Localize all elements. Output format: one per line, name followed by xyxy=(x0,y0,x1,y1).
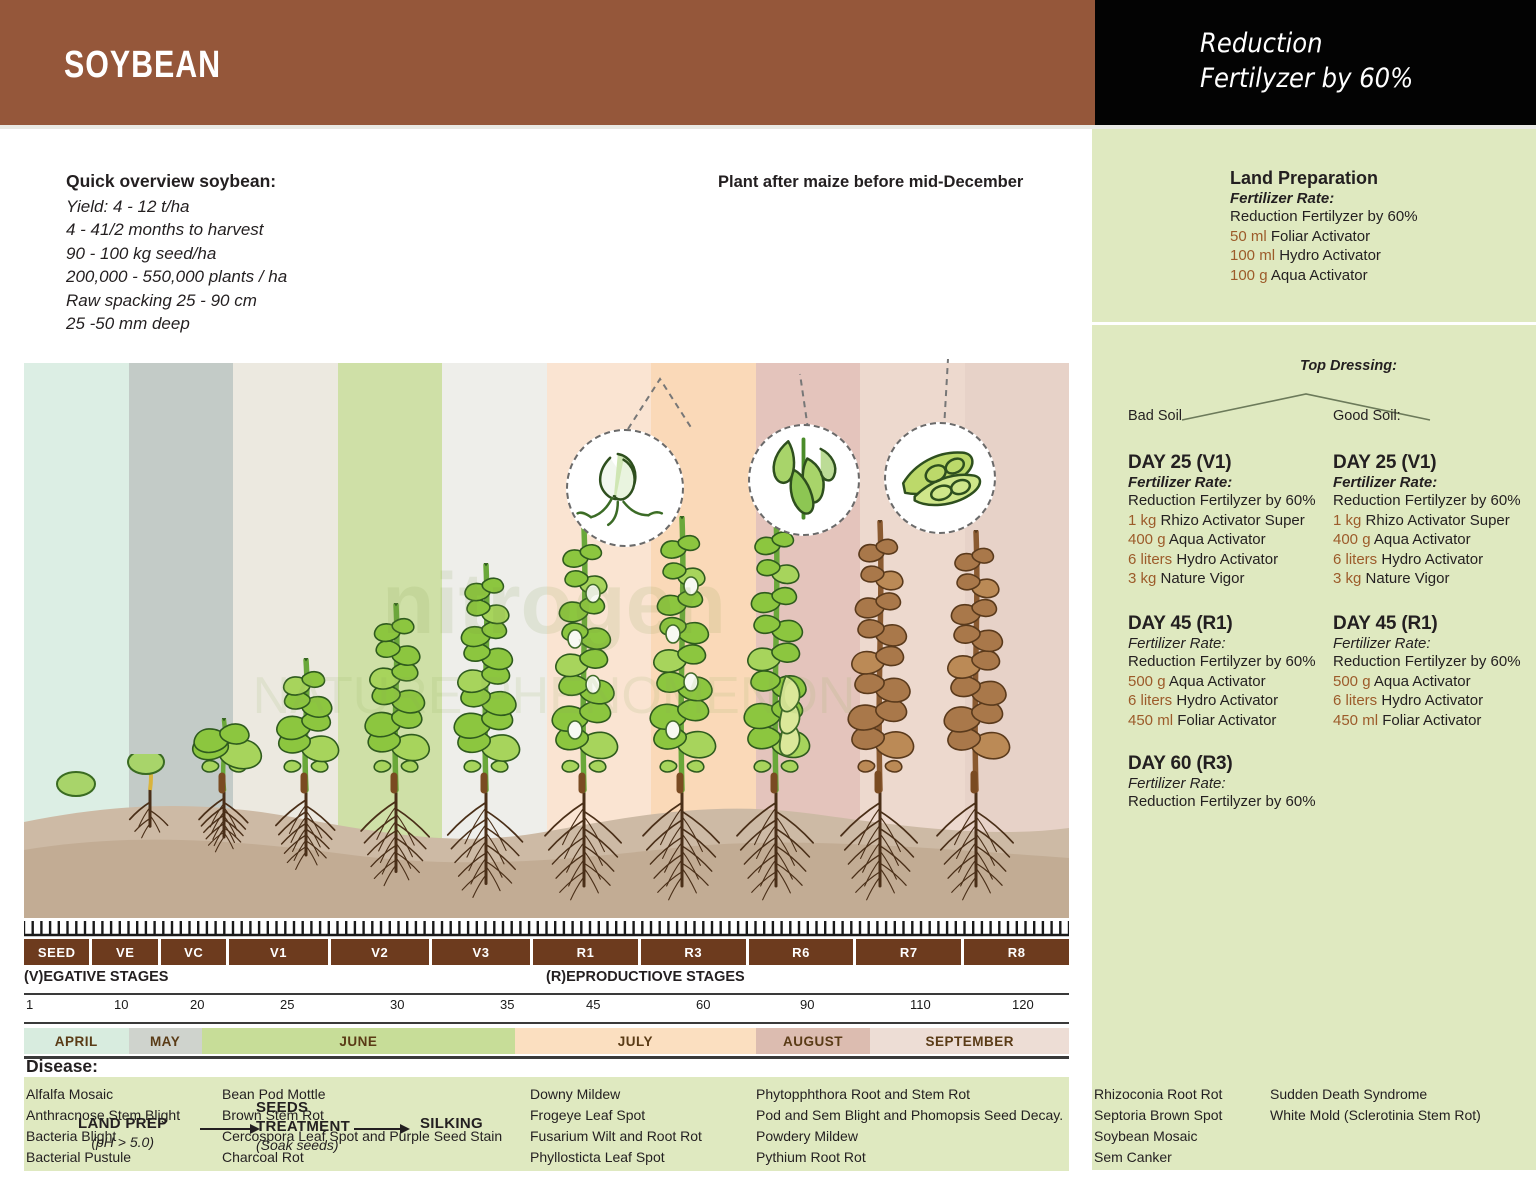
land-preparation-title: Land Preparation xyxy=(1230,168,1530,189)
disease-item: Phyllosticta Leaf Spot xyxy=(530,1147,702,1168)
plant-stage-r8 xyxy=(920,530,1032,908)
day-block-base-rate: Reduction Fertilyzer by 60% xyxy=(1333,491,1536,511)
fertilizer-product: Aqua Activator xyxy=(1271,267,1368,284)
day-tick-label: 45 xyxy=(586,997,600,1012)
fertilizer-product: Aqua Activator xyxy=(1169,531,1266,548)
fertilizer-item: 6 liters Hydro Activator xyxy=(1333,691,1536,711)
fertilizer-item: 100 g Aqua Activator xyxy=(1230,266,1530,286)
fertilizer-product: Aqua Activator xyxy=(1374,531,1471,548)
good-soil-label: Good Soil: xyxy=(1333,408,1401,424)
disease-item: Bacterial Pustule xyxy=(26,1147,180,1168)
month-block-april[interactable]: APRIL xyxy=(24,1028,129,1054)
disease-item: Powdery Mildew xyxy=(756,1126,1063,1147)
tagline-line-1: Reduction xyxy=(1200,26,1530,61)
stage-block-r6[interactable]: R6 xyxy=(749,939,854,965)
fertilizer-amount: 6 liters xyxy=(1128,551,1176,568)
fertilizer-product: Hydro Activator xyxy=(1176,692,1278,709)
main-content: Quick overview soybean: Yield: 4 - 12 t/… xyxy=(0,129,1092,1187)
disease-column: Sudden Death SyndromeWhite Mold (Sclerot… xyxy=(1270,1084,1481,1126)
page-header: SOYBEAN Reduction Fertilyzer by 60% xyxy=(0,0,1536,125)
fertilizer-product: Hydro Activator xyxy=(1381,551,1483,568)
disease-item: Pod and Sem Blight and Phomopsis Seed De… xyxy=(756,1105,1063,1126)
disease-item: Rhizoconia Root Rot xyxy=(1094,1084,1222,1105)
fertilizer-amount: 3 kg xyxy=(1333,570,1366,587)
day-block-title: DAY 45 (R1) xyxy=(1333,613,1536,635)
disease-item: Soybean Mosaic xyxy=(1094,1126,1222,1147)
disease-item: Fusarium Wilt and Root Rot xyxy=(530,1126,702,1147)
disease-item: Pythium Root Rot xyxy=(756,1147,1063,1168)
stage-blocks-row: SEEDVEVCV1V2V3R1R3R6R7R8 xyxy=(24,939,1069,965)
stage-block-vc[interactable]: VC xyxy=(161,939,226,965)
month-block-july[interactable]: JULY xyxy=(515,1028,755,1054)
fertilizer-item: 450 ml Foliar Activator xyxy=(1333,711,1536,731)
disease-column: Phytopphthora Root and Stem RotPod and S… xyxy=(756,1084,1063,1168)
stage-block-r1[interactable]: R1 xyxy=(533,939,638,965)
quick-overview-block: Quick overview soybean: Yield: 4 - 12 t/… xyxy=(66,171,406,336)
day-block-base-rate: Reduction Fertilyzer by 60% xyxy=(1128,652,1333,672)
disease-item: Alfalfa Mosaic xyxy=(26,1084,180,1105)
stage-block-v2[interactable]: V2 xyxy=(331,939,429,965)
fertilizer-amount: 6 liters xyxy=(1128,692,1176,709)
watermark: nitrogen NATURE PHENOMENON xyxy=(184,543,924,773)
callout-green-pods xyxy=(748,424,860,536)
vegetative-stages-caption: (V)EGATIVE STAGES xyxy=(24,969,168,985)
fertilizer-item: 1 kg Rhizo Activator Super xyxy=(1128,511,1333,531)
stage-block-v3[interactable]: V3 xyxy=(432,939,530,965)
disease-column: Rhizoconia Root RotSeptoria Brown SpotSo… xyxy=(1094,1084,1222,1168)
day-tick-label: 60 xyxy=(696,997,710,1012)
quick-overview-line: Raw spacking 25 - 90 cm xyxy=(66,289,406,312)
quick-overview-line: 25 -50 mm deep xyxy=(66,312,406,335)
day-tick-label: 120 xyxy=(1012,997,1034,1012)
disease-item: Septoria Brown Spot xyxy=(1094,1105,1222,1126)
disease-item: Sudden Death Syndrome xyxy=(1270,1084,1481,1105)
fertilizer-item: 500 g Aqua Activator xyxy=(1128,672,1333,692)
disease-item: Anthracnose Stem Blight xyxy=(26,1105,180,1126)
fertilizer-amount: 1 kg xyxy=(1333,512,1366,529)
month-bar-bottom-rule xyxy=(24,1056,1069,1059)
fertilizer-item: 450 ml Foliar Activator xyxy=(1128,711,1333,731)
fertilizer-product: Aqua Activator xyxy=(1169,673,1266,690)
fertilizer-product: Hydro Activator xyxy=(1176,551,1278,568)
day-tick-label: 110 xyxy=(910,997,931,1012)
stage-block-ve[interactable]: VE xyxy=(92,939,157,965)
day-tick-label: 20 xyxy=(190,997,204,1012)
disease-item: White Mold (Sclerotinia Stem Rot) xyxy=(1270,1105,1481,1126)
fertilizer-product: Nature Vigor xyxy=(1366,570,1450,587)
disease-column: Downy MildewFrogeye Leaf SpotFusarium Wi… xyxy=(530,1084,702,1168)
disease-item: Phytopphthora Root and Stem Rot xyxy=(756,1084,1063,1105)
fertilizer-product: Foliar Activator xyxy=(1382,712,1481,729)
disease-item: Charcoal Rot xyxy=(222,1147,502,1168)
fertilizer-product: Rhizo Activator Super xyxy=(1366,512,1510,529)
fertilizer-amount: 500 g xyxy=(1333,673,1374,690)
disease-column: Alfalfa MosaicAnthracnose Stem BlightBac… xyxy=(26,1084,180,1168)
quick-overview-title: Quick overview soybean: xyxy=(66,171,406,192)
quick-overview-line: 90 - 100 kg seed/ha xyxy=(66,242,406,265)
disease-item: Bacteria Blight xyxy=(26,1126,180,1147)
page-title: SOYBEAN xyxy=(64,44,221,87)
fertilizer-amount: 500 g xyxy=(1128,673,1169,690)
day-tick-label: 30 xyxy=(390,997,404,1012)
land-preparation-base-rate: Reduction Fertilyzer by 60% xyxy=(1230,207,1530,227)
day-block-base-rate: Reduction Fertilyzer by 60% xyxy=(1128,792,1333,812)
day-block-rate-label: Fertilizer Rate: xyxy=(1333,474,1536,491)
callout-filled-pods xyxy=(884,422,996,534)
disease-title: Disease: xyxy=(26,1056,98,1077)
disease-item: Downy Mildew xyxy=(530,1084,702,1105)
day-tick-label: 25 xyxy=(280,997,294,1012)
fertilizer-amount: 100 ml xyxy=(1230,247,1279,264)
top-dressing-day-block: DAY 45 (R1)Fertilizer Rate:Reduction Fer… xyxy=(1333,613,1536,730)
land-preparation-items: 50 ml Foliar Activator100 ml Hydro Activ… xyxy=(1230,227,1530,286)
month-block-september[interactable]: SEPTEMBER xyxy=(870,1028,1069,1054)
day-tick-label: 35 xyxy=(500,997,514,1012)
quick-overview-line: Yield: 4 - 12 t/ha xyxy=(66,195,406,218)
day-tick-label: 1 xyxy=(26,997,33,1012)
fertilizer-product: Foliar Activator xyxy=(1177,712,1276,729)
disease-item: Cercospora Leaf Spot and Purple Seed Sta… xyxy=(222,1126,502,1147)
fertilizer-item: 100 ml Hydro Activator xyxy=(1230,246,1530,266)
stage-block-v1[interactable]: V1 xyxy=(229,939,327,965)
fertilizer-item: 6 liters Hydro Activator xyxy=(1128,691,1333,711)
fertilizer-amount: 450 ml xyxy=(1128,712,1177,729)
fertilizer-item: 6 liters Hydro Activator xyxy=(1333,550,1536,570)
fertilizer-item: 400 g Aqua Activator xyxy=(1333,530,1536,550)
day-axis-top-rule xyxy=(24,993,1069,995)
day-block-base-rate: Reduction Fertilyzer by 60% xyxy=(1128,491,1333,511)
month-block-august[interactable]: AUGUST xyxy=(756,1028,871,1054)
quick-overview-line: 4 - 41/2 months to harvest xyxy=(66,218,406,241)
planting-note: Plant after maize before mid-December xyxy=(718,173,1023,192)
fertilizer-amount: 400 g xyxy=(1128,531,1169,548)
day-block-rate-label: Fertilizer Rate: xyxy=(1333,635,1536,652)
svg-text:nitrogen: nitrogen xyxy=(382,556,726,652)
plant-illustration xyxy=(920,530,1032,908)
top-dressing-day-block: DAY 25 (V1)Fertilizer Rate:Reduction Fer… xyxy=(1128,452,1333,589)
day-block-title: DAY 25 (V1) xyxy=(1333,452,1536,474)
month-block-may[interactable]: MAY xyxy=(129,1028,202,1054)
stage-block-r3[interactable]: R3 xyxy=(641,939,746,965)
fertilizer-item: 3 kg Nature Vigor xyxy=(1333,569,1536,589)
fertilizer-item: 6 liters Hydro Activator xyxy=(1128,550,1333,570)
svg-text:NATURE PHENOMENON: NATURE PHENOMENON xyxy=(253,667,856,725)
fertilizer-product: Nature Vigor xyxy=(1161,570,1245,587)
bad-soil-label: Bad Soil xyxy=(1128,408,1182,424)
measurement-ruler xyxy=(24,919,1069,937)
disease-column: Bean Pod MottleBrown Stem RotCercospora … xyxy=(222,1084,502,1168)
fertilizer-item: 50 ml Foliar Activator xyxy=(1230,227,1530,247)
day-block-title: DAY 60 (R3) xyxy=(1128,753,1333,775)
fertilizer-amount: 400 g xyxy=(1333,531,1374,548)
fertilizer-product: Foliar Activator xyxy=(1271,228,1370,245)
fertilizer-item: 400 g Aqua Activator xyxy=(1128,530,1333,550)
green-pods-icon xyxy=(750,426,857,533)
top-dressing-day-block: DAY 60 (R3)Fertilizer Rate:Reduction Fer… xyxy=(1128,753,1333,812)
fertilizer-item: 500 g Aqua Activator xyxy=(1333,672,1536,692)
fertilizer-amount: 6 liters xyxy=(1333,551,1381,568)
disease-item: Brown Stem Rot xyxy=(222,1105,502,1126)
fertilizer-amount: 1 kg xyxy=(1128,512,1161,529)
quick-overview-line: 200,000 - 550,000 plants / ha xyxy=(66,265,406,288)
day-tick-label: 10 xyxy=(114,997,128,1012)
fertilizer-amount: 6 liters xyxy=(1333,692,1381,709)
tagline-line-2: Fertilyzer by 60% xyxy=(1200,61,1530,96)
day-block-title: DAY 25 (V1) xyxy=(1128,452,1333,474)
land-preparation-rate-label: Fertilizer Rate: xyxy=(1230,190,1530,207)
day-block-rate-label: Fertilizer Rate: xyxy=(1128,635,1333,652)
top-dressing-day-block: DAY 25 (V1)Fertilizer Rate:Reduction Fer… xyxy=(1333,452,1536,589)
day-axis-bottom-rule xyxy=(24,1021,1069,1024)
fertilizer-item: 1 kg Rhizo Activator Super xyxy=(1333,511,1536,531)
disease-item: Frogeye Leaf Spot xyxy=(530,1105,702,1126)
fertilizer-amount: 450 ml xyxy=(1333,712,1382,729)
day-number-axis: 11020253035456090110120 xyxy=(24,997,1069,1021)
month-bar: APRILMAYJUNEJULYAUGUSTSEPTEMBER xyxy=(24,1028,1069,1054)
flower-bud-icon xyxy=(568,431,681,544)
day-block-rate-label: Fertilizer Rate: xyxy=(1128,775,1333,792)
stage-block-r8[interactable]: R8 xyxy=(964,939,1069,965)
callout-flower-bud xyxy=(566,429,684,547)
land-preparation-block: Land Preparation Fertilizer Rate: Reduct… xyxy=(1230,168,1530,285)
fertilizer-product: Hydro Activator xyxy=(1279,247,1381,264)
month-block-june[interactable]: JUNE xyxy=(202,1028,516,1054)
day-tick-label: 90 xyxy=(800,997,814,1012)
day-block-base-rate: Reduction Fertilyzer by 60% xyxy=(1333,652,1536,672)
fertilizer-product: Hydro Activator xyxy=(1381,692,1483,709)
fertilizer-product: Rhizo Activator Super xyxy=(1161,512,1305,529)
fertilizer-item: 3 kg Nature Vigor xyxy=(1128,569,1333,589)
day-block-title: DAY 45 (R1) xyxy=(1128,613,1333,635)
header-tagline: Reduction Fertilyzer by 60% xyxy=(1200,26,1530,96)
top-dressing-day-block: DAY 45 (R1)Fertilizer Rate:Reduction Fer… xyxy=(1128,613,1333,730)
fertilizer-amount: 100 g xyxy=(1230,267,1271,284)
stage-block-r7[interactable]: R7 xyxy=(856,939,961,965)
filled-pods-icon xyxy=(886,424,993,531)
reproductive-stages-caption: (R)EPRODUCTIOVE STAGES xyxy=(546,969,745,985)
disease-item: Bean Pod Mottle xyxy=(222,1084,502,1105)
stage-block-seed[interactable]: SEED xyxy=(24,939,89,965)
day-block-rate-label: Fertilizer Rate: xyxy=(1128,474,1333,491)
fertilizer-product: Aqua Activator xyxy=(1374,673,1471,690)
fertilizer-amount: 50 ml xyxy=(1230,228,1271,245)
disease-item: Sem Canker xyxy=(1094,1147,1222,1168)
fertilizer-amount: 3 kg xyxy=(1128,570,1161,587)
